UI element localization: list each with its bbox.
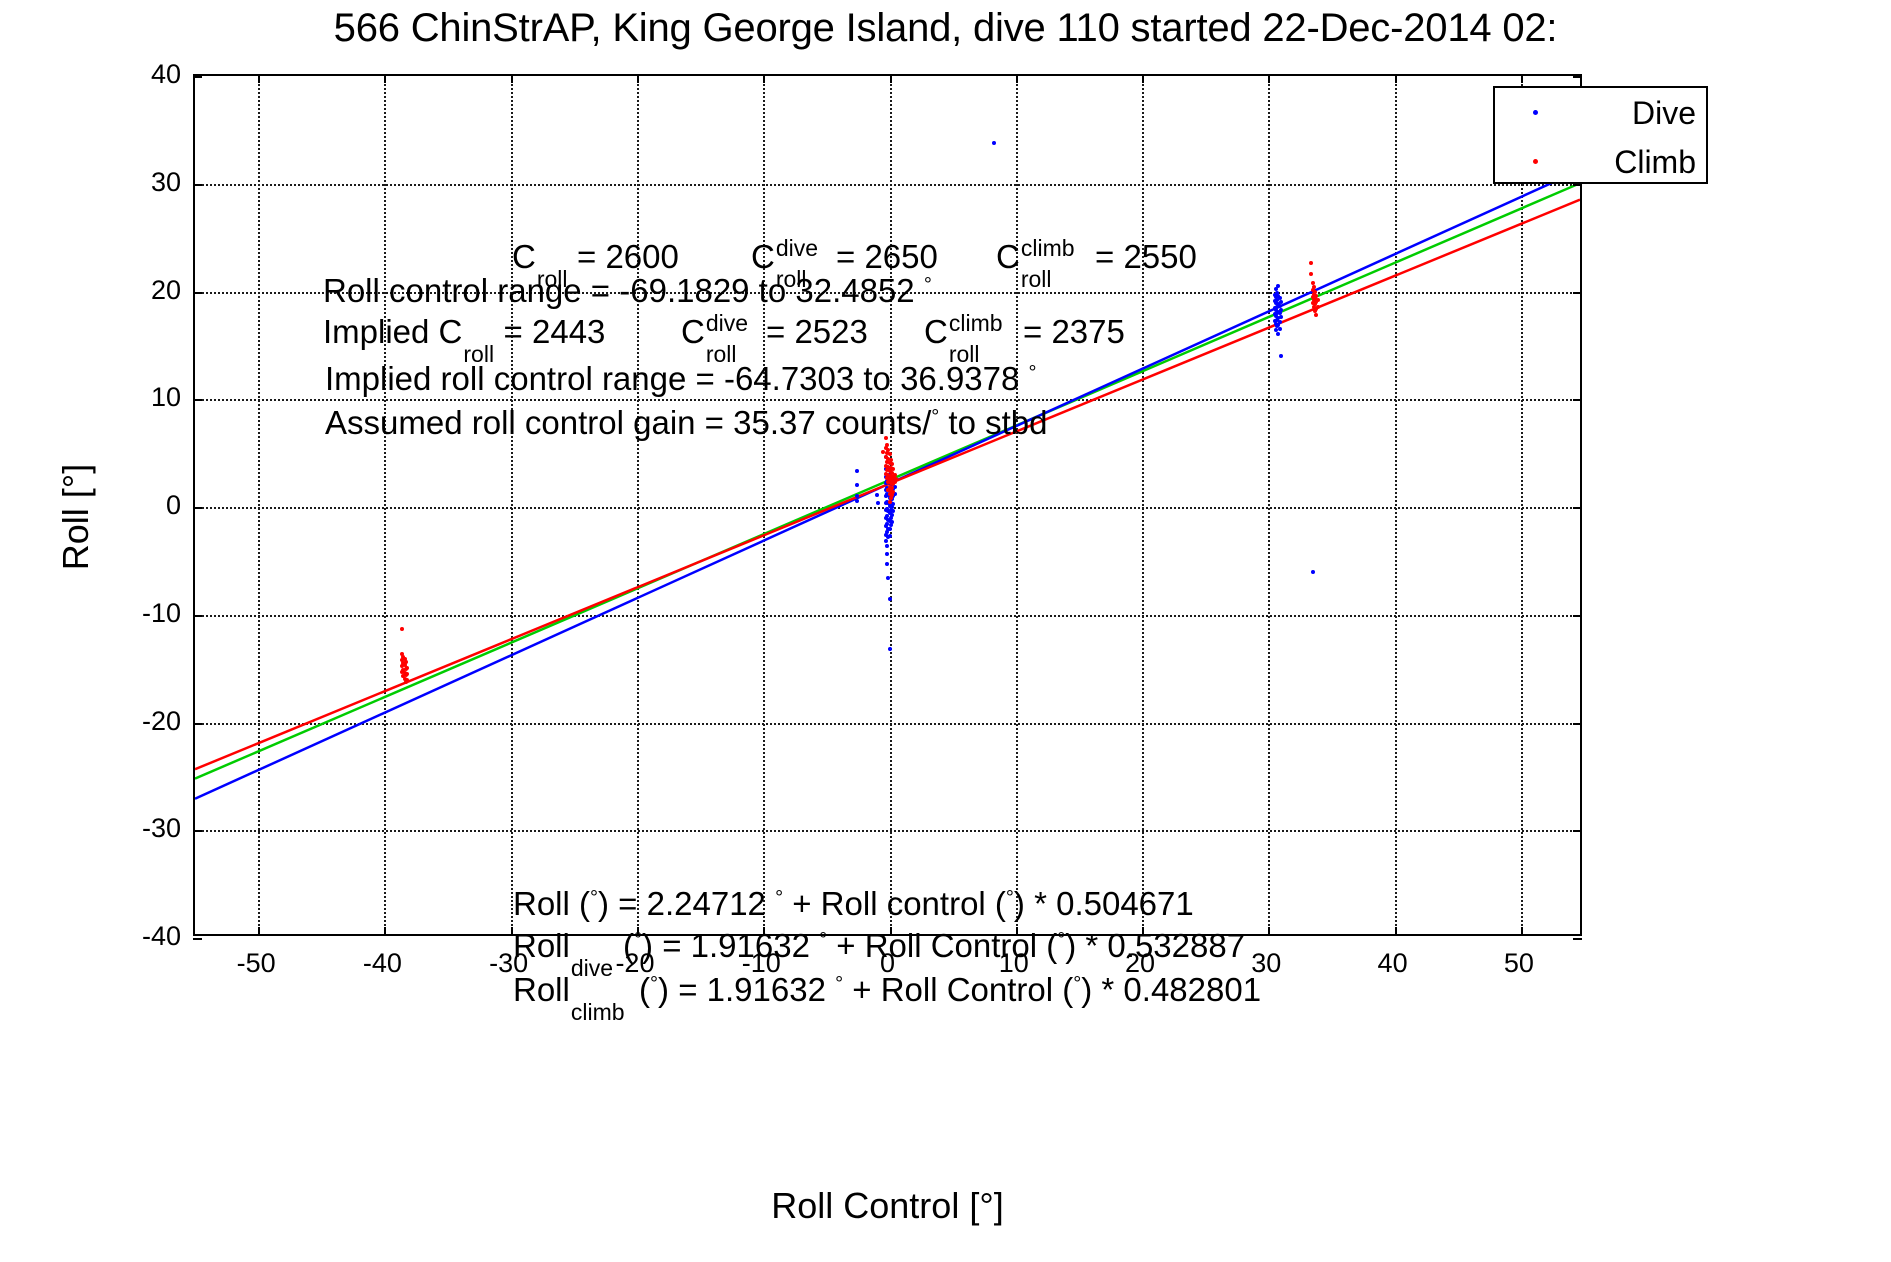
x-tick	[1395, 74, 1397, 83]
y-tick	[1573, 507, 1582, 509]
x-axis-label: Roll Control [°]	[193, 1185, 1582, 1227]
degree-symbol-icon: °	[1073, 973, 1081, 995]
eq-climb-subscript: climb	[571, 994, 625, 1030]
x-tick	[1268, 927, 1270, 936]
c-climb-value: = 2550	[1086, 238, 1197, 275]
x-tick	[1395, 927, 1397, 936]
y-tick-label: -10	[97, 598, 181, 628]
y-tick	[193, 938, 202, 940]
degree-symbol-icon: °	[1057, 929, 1065, 951]
x-tick-label: 40	[1378, 948, 1408, 978]
assumed-gain-text: Assumed roll control gain = 35.37 counts…	[325, 404, 931, 441]
implied-c-roll-value: = 2443	[494, 313, 605, 350]
x-tick-label: -30	[489, 948, 528, 978]
y-tick	[193, 184, 202, 186]
annot-c-roll-dive: Cdiveroll = 2650	[751, 239, 938, 275]
data-point-dive	[1278, 327, 1282, 331]
y-tick	[193, 830, 202, 832]
data-point-dive	[876, 501, 880, 505]
data-point-dive	[855, 499, 859, 503]
legend-item-dive[interactable]: Dive	[1495, 88, 1706, 137]
roll-control-range-text: Roll control range = -69.1829 to 32.4852	[323, 272, 924, 309]
degree-symbol-icon: °	[1029, 362, 1037, 384]
y-tick	[193, 76, 202, 78]
y-tick	[193, 507, 202, 509]
legend-label: Climb	[1614, 145, 1696, 179]
c-roll-symbol: C	[512, 238, 536, 275]
degree-symbol-icon: °	[819, 929, 827, 951]
degree-symbol-icon: °	[590, 887, 598, 909]
plot-area: Croll = 2600 Cdiveroll = 2650 Cclimbroll…	[193, 74, 1582, 936]
data-point-dive	[1278, 304, 1282, 308]
y-tick-label: 20	[97, 275, 181, 305]
page-title: 566 ChinStrAP, King George Island, dive …	[0, 2, 1891, 54]
annot-implied-roll-control-range: Implied roll control range = -64.7303 to…	[325, 361, 1037, 402]
annot-equation-all: Roll (°) = 2.24712 ° + Roll control (°) …	[513, 886, 1194, 927]
x-tick-label: -20	[615, 948, 654, 978]
y-tick	[193, 615, 202, 617]
data-point-climb	[889, 458, 893, 462]
x-tick	[384, 74, 386, 83]
x-tick	[258, 927, 260, 936]
y-tick	[193, 723, 202, 725]
x-tick	[258, 74, 260, 83]
data-point-climb	[888, 452, 892, 456]
legend: DiveClimb	[1493, 86, 1708, 184]
annot-implied-c-climb: Cclimbroll = 2375	[924, 314, 1125, 350]
degree-symbol-icon: °	[931, 406, 939, 428]
data-point-climb	[890, 486, 894, 490]
x-tick	[763, 74, 765, 83]
implied-c-roll-prefix: Implied C	[323, 313, 462, 350]
x-tick-label: 10	[999, 948, 1029, 978]
x-tick	[384, 927, 386, 936]
dive-marker-icon	[1533, 110, 1538, 115]
data-point-dive	[1278, 320, 1282, 324]
c-climb-subscript: roll	[1021, 261, 1052, 297]
x-tick	[890, 74, 892, 83]
data-point-dive	[885, 544, 889, 548]
implied-c-dive-value: = 2523	[757, 313, 868, 350]
data-point-dive	[888, 527, 892, 531]
degree-symbol-icon: °	[775, 887, 783, 909]
y-tick	[1573, 399, 1582, 401]
y-axis-label: Roll [°]	[55, 217, 97, 817]
annot-equation-climb: Rollclimb (°) = 1.91632 ° + Roll Control…	[513, 972, 1261, 1013]
x-tick-label: 30	[1251, 948, 1281, 978]
data-point-climb	[890, 462, 894, 466]
data-point-dive	[888, 597, 892, 601]
x-tick-label: -50	[237, 948, 276, 978]
legend-item-climb[interactable]: Climb	[1495, 137, 1706, 186]
x-tick-label: 0	[880, 948, 895, 978]
y-tick	[1573, 76, 1582, 78]
figure-root: 566 ChinStrAP, King George Island, dive …	[0, 0, 1891, 1262]
y-tick	[1573, 615, 1582, 617]
y-tick	[193, 399, 202, 401]
annot-assumed-gain: Assumed roll control gain = 35.37 counts…	[325, 405, 1048, 446]
data-point-dive	[1279, 308, 1283, 312]
y-tick	[1573, 938, 1582, 940]
x-tick	[1521, 927, 1523, 936]
x-tick	[1268, 74, 1270, 83]
y-tick-label: -40	[97, 921, 181, 951]
legend-label: Dive	[1632, 96, 1696, 130]
y-tick	[1573, 723, 1582, 725]
plot-clip	[195, 76, 1580, 934]
data-point-dive	[888, 534, 892, 538]
y-tick-label: -30	[97, 813, 181, 843]
implied-roll-control-range-text: Implied roll control range = -64.7303 to…	[325, 360, 1029, 397]
annot-implied-c-dive: Cdiveroll = 2523	[681, 314, 868, 350]
eq-dive-part3: ) = 1.91632	[642, 927, 819, 964]
data-point-dive	[1311, 570, 1315, 574]
y-tick-label: 40	[97, 59, 181, 89]
eq-all-part1: Roll (	[513, 885, 590, 922]
data-point-climb	[888, 500, 892, 504]
c-roll-value: = 2600	[568, 238, 679, 275]
x-tick	[637, 74, 639, 83]
data-point-climb	[894, 477, 898, 481]
x-tick	[1016, 74, 1018, 83]
x-tick	[1521, 74, 1523, 83]
annot-c-roll-climb: Cclimbroll = 2550	[996, 239, 1197, 275]
eq-climb-part5: ) * 0.482801	[1081, 971, 1261, 1008]
data-point-climb	[400, 627, 404, 631]
data-point-dive	[855, 494, 859, 498]
data-point-dive	[888, 647, 892, 651]
data-point-climb	[1313, 290, 1317, 294]
c-climb-symbol: C	[996, 238, 1020, 275]
x-tick-label: 20	[1125, 948, 1155, 978]
c-dive-value: = 2650	[827, 238, 938, 275]
y-tick	[1573, 292, 1582, 294]
y-tick-label: 30	[97, 167, 181, 197]
c-dive-symbol: C	[751, 238, 775, 275]
x-tick	[1142, 74, 1144, 83]
annot-implied-c-roll: Implied Croll = 2443	[323, 314, 605, 350]
degree-symbol-icon: °	[1006, 887, 1014, 909]
implied-c-climb-symbol: C	[924, 313, 948, 350]
x-tick-label: 50	[1504, 948, 1534, 978]
data-point-dive	[875, 493, 879, 497]
implied-c-dive-symbol: C	[681, 313, 705, 350]
eq-all-part2: ) = 2.24712	[598, 885, 775, 922]
data-point-climb	[405, 666, 409, 670]
data-point-climb	[1316, 305, 1320, 309]
degree-symbol-icon: °	[924, 274, 932, 296]
y-tick-label: -20	[97, 706, 181, 736]
eq-all-part4: ) * 0.504671	[1014, 885, 1194, 922]
implied-c-climb-value: = 2375	[1014, 313, 1125, 350]
y-tick	[1573, 830, 1582, 832]
eq-all-part3: + Roll control (	[783, 885, 1006, 922]
y-tick-label: 0	[97, 490, 181, 520]
assumed-gain-suffix: to stbd	[939, 404, 1047, 441]
x-tick-label: -40	[363, 948, 402, 978]
climb-marker-icon	[1533, 159, 1538, 164]
annot-roll-control-range: Roll control range = -69.1829 to 32.4852…	[323, 273, 932, 314]
degree-symbol-icon: °	[835, 973, 843, 995]
data-point-dive	[890, 513, 894, 517]
data-point-climb	[1312, 285, 1316, 289]
annot-c-roll: Croll = 2600	[512, 239, 679, 275]
x-tick	[511, 74, 513, 83]
data-point-climb	[404, 660, 408, 664]
data-point-climb	[1316, 298, 1320, 302]
y-tick-label: 10	[97, 382, 181, 412]
eq-dive-part5: ) * 0.532887	[1065, 927, 1245, 964]
eq-climb-part4: + Roll Control (	[843, 971, 1073, 1008]
x-tick-label: -10	[742, 948, 781, 978]
y-tick	[193, 292, 202, 294]
